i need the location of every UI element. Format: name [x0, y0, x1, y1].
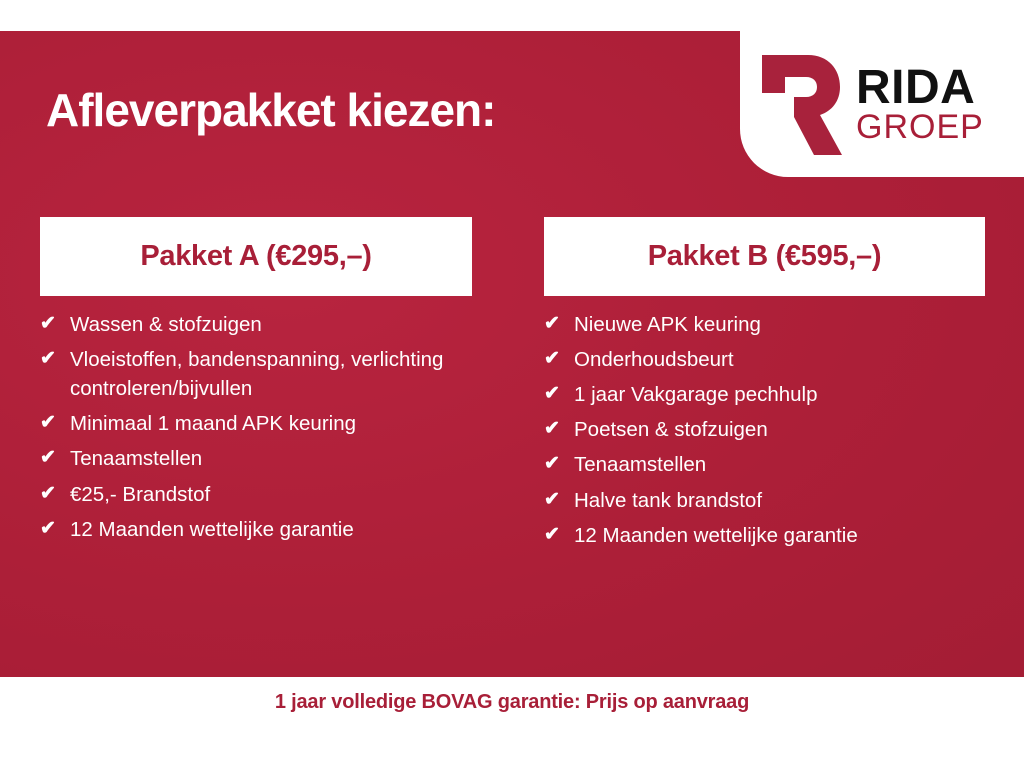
- check-icon: ✔: [544, 486, 574, 515]
- feature-text: Minimaal 1 maand APK keuring: [70, 409, 472, 438]
- rida-r-mark-icon: [758, 53, 844, 157]
- slide-root: Afleverpakket kiezen: RIDA GROEP Pakket …: [0, 0, 1024, 768]
- list-item: ✔ €25,- Brandstof: [40, 480, 472, 509]
- logo-panel: RIDA GROEP: [740, 31, 1024, 177]
- check-icon: ✔: [40, 310, 70, 339]
- feature-text: 12 Maanden wettelijke garantie: [574, 521, 985, 550]
- package-b-title: Pakket B (€595,–): [648, 240, 882, 273]
- check-icon: ✔: [544, 380, 574, 409]
- check-icon: ✔: [544, 521, 574, 550]
- feature-text: Poetsen & stofzuigen: [574, 415, 985, 444]
- package-b-feature-list: ✔ Nieuwe APK keuring ✔ Onderhoudsbeurt ✔…: [544, 310, 985, 550]
- list-item: ✔ Nieuwe APK keuring: [544, 310, 985, 339]
- footer-band: 1 jaar volledige BOVAG garantie: Prijs o…: [0, 677, 1024, 768]
- list-item: ✔ Minimaal 1 maand APK keuring: [40, 409, 472, 438]
- logo-subtitle: GROEP: [856, 112, 984, 143]
- list-item: ✔ Tenaamstellen: [40, 444, 472, 473]
- list-item: ✔ Tenaamstellen: [544, 450, 985, 479]
- check-icon: ✔: [40, 515, 70, 544]
- check-icon: ✔: [40, 345, 70, 374]
- package-a-title: Pakket A (€295,–): [140, 240, 371, 273]
- package-a-feature-list: ✔ Wassen & stofzuigen ✔ Vloeistoffen, ba…: [40, 310, 472, 544]
- list-item: ✔ 12 Maanden wettelijke garantie: [544, 521, 985, 550]
- check-icon: ✔: [544, 310, 574, 339]
- list-item: ✔ Vloeistoffen, bandenspanning, verlicht…: [40, 345, 472, 403]
- feature-text: Tenaamstellen: [574, 450, 985, 479]
- list-item: ✔ Onderhoudsbeurt: [544, 345, 985, 374]
- red-stage: Afleverpakket kiezen: RIDA GROEP Pakket …: [0, 31, 1024, 677]
- list-item: ✔ Poetsen & stofzuigen: [544, 415, 985, 444]
- feature-text: Onderhoudsbeurt: [574, 345, 985, 374]
- list-item: ✔ 12 Maanden wettelijke garantie: [40, 515, 472, 544]
- feature-text: Nieuwe APK keuring: [574, 310, 985, 339]
- feature-text: €25,- Brandstof: [70, 480, 472, 509]
- feature-text: Wassen & stofzuigen: [70, 310, 472, 339]
- feature-text: Vloeistoffen, bandenspanning, verlichtin…: [70, 345, 472, 403]
- package-b-card[interactable]: Pakket B (€595,–): [544, 217, 985, 296]
- feature-text: Halve tank brandstof: [574, 486, 985, 515]
- package-column-b: Pakket B (€595,–) ✔ Nieuwe APK keuring ✔…: [512, 217, 1024, 556]
- package-a-card[interactable]: Pakket A (€295,–): [40, 217, 472, 296]
- feature-text: 12 Maanden wettelijke garantie: [70, 515, 472, 544]
- check-icon: ✔: [544, 450, 574, 479]
- check-icon: ✔: [544, 415, 574, 444]
- list-item: ✔ Halve tank brandstof: [544, 486, 985, 515]
- list-item: ✔ Wassen & stofzuigen: [40, 310, 472, 339]
- check-icon: ✔: [40, 480, 70, 509]
- list-item: ✔ 1 jaar Vakgarage pechhulp: [544, 380, 985, 409]
- footer-note: 1 jaar volledige BOVAG garantie: Prijs o…: [275, 691, 749, 768]
- packages-container: Pakket A (€295,–) ✔ Wassen & stofzuigen …: [0, 217, 1024, 556]
- package-column-a: Pakket A (€295,–) ✔ Wassen & stofzuigen …: [0, 217, 512, 556]
- feature-text: 1 jaar Vakgarage pechhulp: [574, 380, 985, 409]
- check-icon: ✔: [40, 444, 70, 473]
- page-title: Afleverpakket kiezen:: [46, 83, 495, 137]
- logo-name: RIDA: [856, 66, 984, 110]
- feature-text: Tenaamstellen: [70, 444, 472, 473]
- check-icon: ✔: [40, 409, 70, 438]
- check-icon: ✔: [544, 345, 574, 374]
